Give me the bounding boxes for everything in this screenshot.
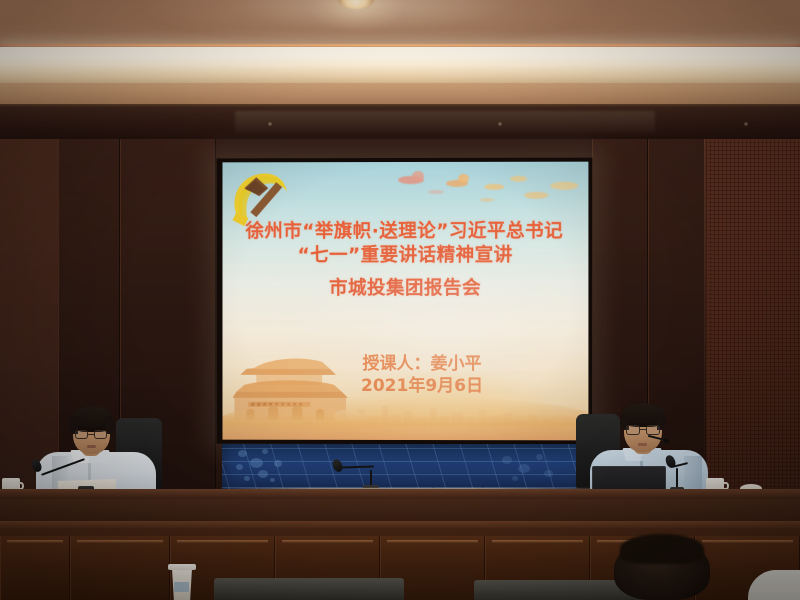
projection-screen-frame: 徐州市“举旗帜·送理论”习近平总书记 “七一”重要讲话精神宣讲 市城投集团报告会…	[217, 158, 593, 445]
cloud-shape	[480, 198, 494, 202]
speaker-mouth	[638, 443, 647, 446]
cloud-shape	[550, 182, 578, 190]
host-sideburn	[106, 416, 115, 434]
paper-cup-lid	[168, 564, 196, 570]
slide-speaker-line: 授课人：姜小平	[256, 353, 588, 375]
audience-bench-rail	[0, 521, 800, 528]
audience-member-hair	[620, 534, 704, 564]
slide-title-line-1: 徐州市“举旗帜·送理论”习近平总书记	[222, 220, 588, 244]
paper-cup-label	[174, 582, 189, 592]
cloud-shape	[458, 174, 469, 183]
cloud-shape	[412, 171, 424, 181]
host-mouth	[87, 445, 96, 448]
banner-dot-cluster	[232, 446, 312, 490]
upper-recess-band	[0, 107, 800, 141]
grille-screw	[498, 122, 502, 126]
conference-hall-photo: 徐州市“举旗帜·送理论”习近平总书记 “七一”重要讲话精神宣讲 市城投集团报告会…	[0, 0, 800, 600]
bench-panel	[0, 536, 70, 600]
cloud-shape	[484, 184, 504, 190]
bench-panel	[70, 536, 170, 600]
slide-title: 徐州市“举旗帜·送理论”习近平总书记 “七一”重要讲话精神宣讲 市城投集团报告会	[222, 220, 588, 301]
slide-bottom-band	[222, 414, 588, 441]
grille-screw	[744, 122, 748, 126]
cloud-shape	[510, 176, 527, 182]
cloud-shape	[524, 192, 548, 199]
blue-backdrop-banner	[222, 444, 590, 492]
banner-dot-cluster	[492, 450, 572, 490]
cove-underside	[0, 70, 800, 84]
slide-title-line-3: 市城投集团报告会	[222, 277, 588, 301]
slide-date-line: 2021年9月6日	[256, 375, 588, 397]
grille-screw	[268, 122, 272, 126]
bench-seat[interactable]	[214, 578, 404, 600]
cloud-shape	[428, 190, 444, 194]
headset-mic-icon	[664, 439, 669, 443]
projection-screen: 徐州市“举旗帜·送理论”习近平总书记 “七一”重要讲话精神宣讲 市城投集团报告会…	[222, 162, 588, 441]
slide-subtitle: 授课人：姜小平 2021年9月6日	[222, 353, 588, 398]
ceiling-grille	[235, 111, 655, 133]
slide-title-line-2: “七一”重要讲话精神宣讲	[222, 244, 588, 268]
ceiling	[0, 0, 800, 46]
cove-light-strip	[0, 47, 800, 71]
